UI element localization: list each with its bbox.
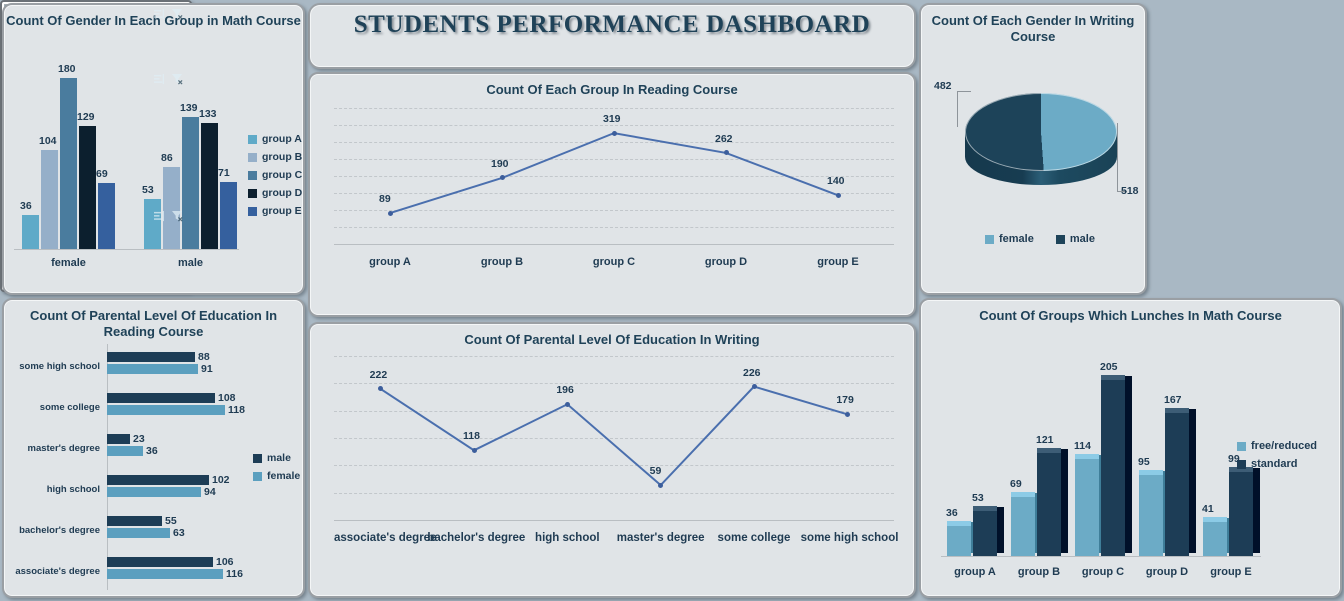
legend-label: group B xyxy=(262,151,302,163)
legend-swatch xyxy=(248,189,257,198)
bar-value: 53 xyxy=(142,184,154,196)
bar3d-free-reduced-group A xyxy=(947,525,971,556)
bar-top xyxy=(947,521,971,526)
data-value-3: 262 xyxy=(715,133,733,145)
bar-face xyxy=(1165,412,1189,556)
bar-face xyxy=(1101,379,1125,556)
legend-label: male xyxy=(267,452,291,464)
chart-lunch-math-panel: Count Of Groups Which Lunches In Math Co… xyxy=(919,298,1342,598)
bar-face xyxy=(1229,471,1253,557)
bar-value: 129 xyxy=(77,111,95,123)
bar-value: 95 xyxy=(1138,456,1150,468)
legend-swatch xyxy=(248,207,257,216)
legend-entry: standard xyxy=(1237,458,1317,470)
axis-label-group D: group D xyxy=(670,256,782,268)
data-value-0: 89 xyxy=(379,193,391,205)
axis-x xyxy=(941,556,1261,557)
hbar-value: 116 xyxy=(226,568,243,580)
hbar-female-high school xyxy=(107,487,201,497)
slicer-header-icons-0 xyxy=(154,9,183,20)
bar-group-A-male xyxy=(144,199,161,249)
bar-side xyxy=(1125,376,1132,553)
pie-label-male: 482 xyxy=(934,80,952,92)
legend-entry: male xyxy=(253,452,300,464)
legend-entry: male xyxy=(1056,233,1095,245)
data-point-3 xyxy=(658,483,663,488)
axis-label-some high school: some high school xyxy=(4,361,100,372)
bar-group-D-female xyxy=(79,126,96,249)
bar-value: 53 xyxy=(972,492,984,504)
hbar-male-bachelor's degree xyxy=(107,516,162,526)
bar-value: 167 xyxy=(1164,394,1182,406)
legend-swatch xyxy=(253,454,262,463)
legend-lunch-math: free/reducedstandard xyxy=(1237,440,1317,476)
bar-face xyxy=(1037,452,1061,557)
plot-area-gender-math: 3610418012969female538613913371male xyxy=(14,53,239,271)
legend-swatch xyxy=(253,472,262,481)
bar3d-free-reduced-group D xyxy=(1139,474,1163,556)
plot-area-parental-writing: 222associate's degree118bachelor's degre… xyxy=(334,356,894,564)
chart-gender-math-panel: Count Of Gender In Each Group in Math Co… xyxy=(2,3,305,295)
bar-group-E-female xyxy=(98,183,115,249)
chart-group-reading-panel: Count Of Each Group In Reading Course 89… xyxy=(308,72,916,317)
bar-value: 121 xyxy=(1036,434,1054,446)
bar3d-free-reduced-group C xyxy=(1075,458,1099,556)
axis-label-bachelor's degree: bachelor's degree xyxy=(427,532,520,544)
pie-label-female: 518 xyxy=(1121,185,1139,197)
axis-label-some college: some college xyxy=(4,402,100,413)
bar-value: 114 xyxy=(1074,440,1091,452)
legend-swatch xyxy=(248,135,257,144)
bar-group-E-male xyxy=(220,182,237,249)
chart-parental-reading-panel: Count Of Parental Level Of Education In … xyxy=(2,298,305,598)
hbar-male-master's degree xyxy=(107,434,130,444)
hbar-value: 55 xyxy=(165,515,177,527)
data-point-0 xyxy=(388,211,393,216)
axis-label-group D: group D xyxy=(1135,566,1199,578)
hbar-value: 94 xyxy=(204,486,216,498)
data-point-5 xyxy=(845,412,850,417)
plot-area-group-reading: 89group A190group B319group C262group D1… xyxy=(334,108,894,286)
data-value-1: 190 xyxy=(491,158,509,170)
hbar-value: 118 xyxy=(228,404,245,416)
axis-label-master's degree: master's degree xyxy=(4,443,100,454)
axis-label-bachelor's degree: bachelor's degree xyxy=(4,525,100,536)
bar-value: 180 xyxy=(58,63,76,75)
data-point-4 xyxy=(752,384,757,389)
bar-value: 36 xyxy=(20,200,32,212)
pie-leader-female xyxy=(1117,123,1118,191)
legend-gender-math: group Agroup Bgroup Cgroup Dgroup E xyxy=(248,133,302,223)
legend-label: group E xyxy=(262,205,302,217)
chart-title-gender-writing: Count Of Each Gender In Writing Course xyxy=(921,5,1145,45)
dashboard-title-panel: STUDENTS PERFORMANCE DASHBOARD xyxy=(308,3,916,69)
axis-label-group A: group A xyxy=(943,566,1007,578)
bar-group-D-male xyxy=(201,123,218,249)
hbar-female-master's degree xyxy=(107,446,143,456)
bar-side xyxy=(1061,449,1068,554)
legend-label: male xyxy=(1070,233,1095,245)
legend-entry: group D xyxy=(248,187,302,199)
bar3d-standard-group B xyxy=(1037,452,1061,557)
dashboard-root: STUDENTS PERFORMANCE DASHBOARD Count Of … xyxy=(0,0,1344,601)
data-value-2: 196 xyxy=(556,384,574,396)
multi-select-icon[interactable] xyxy=(154,211,165,222)
slicer-header-icons-2 xyxy=(154,211,183,222)
legend-entry: female xyxy=(985,233,1034,245)
bar-value: 41 xyxy=(1202,503,1214,515)
data-value-3: 59 xyxy=(650,465,662,477)
clear-filter-icon[interactable] xyxy=(172,74,183,85)
axis-label-some college: some college xyxy=(707,532,800,544)
legend-label: group D xyxy=(262,187,302,199)
legend-swatch xyxy=(1237,460,1246,469)
bar3d-standard-group C xyxy=(1101,379,1125,556)
hbar-value: 102 xyxy=(212,474,230,486)
legend-swatch xyxy=(248,153,257,162)
hbar-female-bachelor's degree xyxy=(107,528,170,538)
data-value-4: 140 xyxy=(827,175,845,187)
bar-face xyxy=(947,525,971,556)
bar-group-B-male xyxy=(163,167,180,249)
hbar-value: 88 xyxy=(198,351,210,363)
chart-title-parental-writing: Count Of Parental Level Of Education In … xyxy=(310,324,914,348)
axis-label-associate's degree: associate's degree xyxy=(334,532,427,544)
bar-side xyxy=(1253,468,1260,554)
chart-title-lunch-math: Count Of Groups Which Lunches In Math Co… xyxy=(921,300,1340,324)
hbar-male-associate's degree xyxy=(107,557,213,567)
bar3d-standard-group D xyxy=(1165,412,1189,556)
bar-value: 86 xyxy=(161,152,173,164)
legend-label: group C xyxy=(262,169,302,181)
data-value-2: 319 xyxy=(603,113,621,125)
bar-face xyxy=(1203,521,1227,556)
axis-label-male: male xyxy=(144,257,237,269)
hbar-value: 23 xyxy=(133,433,145,445)
bar-top xyxy=(1165,408,1189,413)
bar-group-A-female xyxy=(22,215,39,249)
chart-parental-writing-panel: Count Of Parental Level Of Education In … xyxy=(308,322,916,598)
bar-face xyxy=(973,510,997,556)
axis-x xyxy=(14,249,239,250)
data-value-0: 222 xyxy=(370,369,388,381)
legend-swatch xyxy=(248,171,257,180)
slicer-header-icons-1 xyxy=(154,74,183,85)
bar-top xyxy=(1075,454,1099,459)
bar-top xyxy=(1139,470,1163,475)
legend-parental-reading: malefemale xyxy=(253,452,300,488)
legend-entry: group C xyxy=(248,169,302,181)
bar3d-standard-group E xyxy=(1229,471,1253,557)
bar-group-C-male xyxy=(182,117,199,249)
bar-top xyxy=(973,506,997,511)
axis-label-group B: group B xyxy=(446,256,558,268)
data-point-4 xyxy=(836,193,841,198)
bar-value: 69 xyxy=(96,168,108,180)
bar-value: 104 xyxy=(39,135,57,147)
data-value-5: 179 xyxy=(836,394,854,406)
pie-leader-male xyxy=(957,91,958,127)
axis-label-group A: group A xyxy=(334,256,446,268)
hbar-male-some high school xyxy=(107,352,195,362)
bar-top xyxy=(1101,375,1125,380)
axis-label-master's degree: master's degree xyxy=(614,532,707,544)
legend-entry: group E xyxy=(248,205,302,217)
bar-face xyxy=(1011,496,1035,556)
axis-label-associate's degree: associate's degree xyxy=(4,566,100,577)
data-point-2 xyxy=(612,131,617,136)
legend-swatch xyxy=(985,235,994,244)
bar-value: 139 xyxy=(180,102,198,114)
legend-label: standard xyxy=(1251,458,1297,470)
hbar-value: 108 xyxy=(218,392,236,404)
legend-entry: female xyxy=(253,470,300,482)
bar-value: 69 xyxy=(1010,478,1022,490)
axis-label-high school: high school xyxy=(521,532,614,544)
legend-entry: free/reduced xyxy=(1237,440,1317,452)
pie-graphic xyxy=(965,93,1117,185)
pie-leader-male-h xyxy=(957,91,971,92)
hbar-value: 36 xyxy=(146,445,158,457)
chart-title-group-reading: Count Of Each Group In Reading Course xyxy=(310,74,914,98)
axis-label-group C: group C xyxy=(558,256,670,268)
bar-value: 36 xyxy=(946,507,958,519)
bar3d-free-reduced-group E xyxy=(1203,521,1227,556)
hbar-value: 91 xyxy=(201,363,213,375)
bar-side xyxy=(1189,409,1196,553)
data-point-2 xyxy=(565,402,570,407)
axis-label-high school: high school xyxy=(4,484,100,495)
hbar-female-some college xyxy=(107,405,225,415)
legend-label: female xyxy=(999,233,1034,245)
bar-side xyxy=(997,507,1004,553)
page-title: STUDENTS PERFORMANCE DASHBOARD xyxy=(310,5,914,39)
clear-filter-icon[interactable] xyxy=(172,9,183,20)
hbar-male-high school xyxy=(107,475,209,485)
bar-group-B-female xyxy=(41,150,58,249)
multi-select-icon[interactable] xyxy=(154,9,165,20)
bar3d-standard-group A xyxy=(973,510,997,556)
legend-label: female xyxy=(267,470,300,482)
axis-label-group E: group E xyxy=(782,256,894,268)
data-value-1: 118 xyxy=(463,430,480,442)
chart-gender-writing-panel: Count Of Each Gender In Writing Course 4… xyxy=(919,3,1147,295)
clear-filter-icon[interactable] xyxy=(172,211,183,222)
axis-label-group E: group E xyxy=(1199,566,1263,578)
bar-face xyxy=(1075,458,1099,556)
axis-label-group B: group B xyxy=(1007,566,1071,578)
axis-y xyxy=(107,344,108,590)
bar-value: 71 xyxy=(218,167,230,179)
bar-top xyxy=(1011,492,1035,497)
multi-select-icon[interactable] xyxy=(154,74,165,85)
hbar-value: 106 xyxy=(216,556,234,568)
data-point-1 xyxy=(472,448,477,453)
data-value-4: 226 xyxy=(743,367,761,379)
axis-label-female: female xyxy=(22,257,115,269)
bar-top xyxy=(1203,517,1227,522)
hbar-female-some high school xyxy=(107,364,198,374)
legend-entry: group B xyxy=(248,151,302,163)
legend-gender-writing: femalemale xyxy=(985,233,1095,245)
bar-value: 205 xyxy=(1100,361,1118,373)
hbar-value: 63 xyxy=(173,527,185,539)
legend-swatch xyxy=(1056,235,1065,244)
bar-value: 133 xyxy=(199,108,217,120)
chart-title-parental-reading: Count Of Parental Level Of Education In … xyxy=(4,300,303,340)
bar-top xyxy=(1037,448,1061,453)
axis-label-some high school: some high school xyxy=(801,532,894,544)
hbar-female-associate's degree xyxy=(107,569,223,579)
axis-label-group C: group C xyxy=(1071,566,1135,578)
legend-swatch xyxy=(1237,442,1246,451)
bar-face xyxy=(1139,474,1163,556)
bar-group-C-female xyxy=(60,78,77,249)
hbar-male-some college xyxy=(107,393,215,403)
legend-entry: group A xyxy=(248,133,302,145)
legend-label: group A xyxy=(262,133,302,145)
pie-surface xyxy=(965,93,1117,171)
bar3d-free-reduced-group B xyxy=(1011,496,1035,556)
legend-label: free/reduced xyxy=(1251,440,1317,452)
